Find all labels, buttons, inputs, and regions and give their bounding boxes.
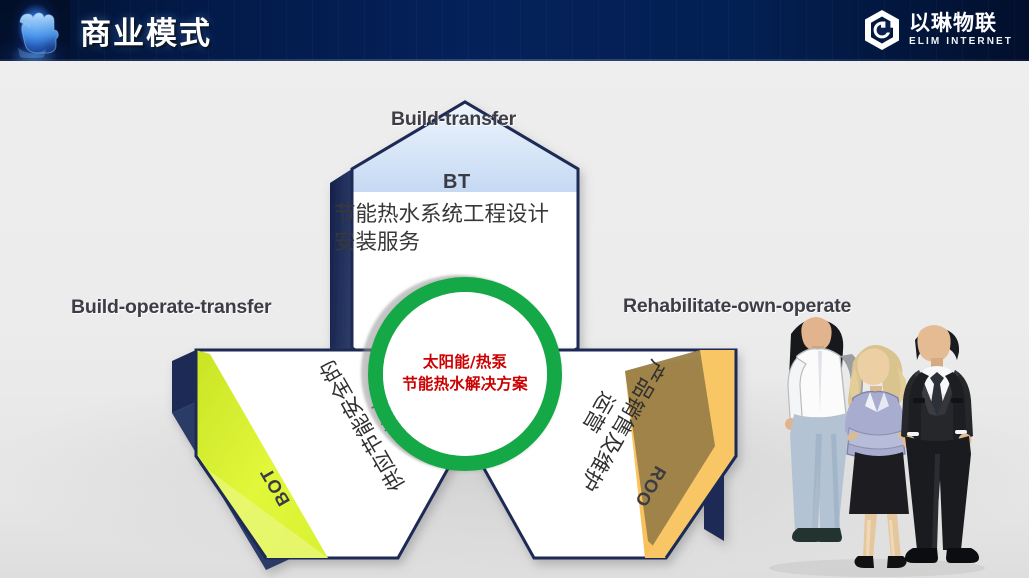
three-business-people-illustration — [757, 296, 985, 578]
caption-build-transfer: Build-transfer — [391, 108, 516, 131]
fist-icon — [0, 0, 70, 61]
slide-header: 商业模式 以琳物联 ELIM INTERNET — [0, 0, 1029, 61]
logo-name-cn: 以琳物联 — [909, 13, 997, 34]
brand-logo: 以琳物联 ELIM INTERNET — [862, 7, 1013, 53]
diagram-stage: Build-transfer Build-operate-transfer Re… — [0, 61, 1029, 578]
center-label: 太阳能/热泵 节能热水解决方案 — [368, 351, 562, 395]
center-ring: 太阳能/热泵 节能热水解决方案 — [368, 277, 562, 471]
elim-g-hexagon-logo-icon — [862, 9, 902, 51]
center-label-line1: 太阳能/热泵 — [368, 351, 562, 373]
logo-name-en: ELIM INTERNET — [909, 37, 1013, 47]
center-label-line2: 节能热水解决方案 — [368, 373, 562, 395]
hex-code-bt: BT — [443, 171, 471, 194]
hex-body-bt: 节能热水系统工程设计 安装服务 — [334, 201, 570, 258]
caption-build-operate-transfer: Build-operate-transfer — [71, 296, 271, 319]
slide-canvas: 商业模式 以琳物联 ELIM INTERNET — [0, 0, 1029, 578]
page-title: 商业模式 — [80, 8, 212, 53]
